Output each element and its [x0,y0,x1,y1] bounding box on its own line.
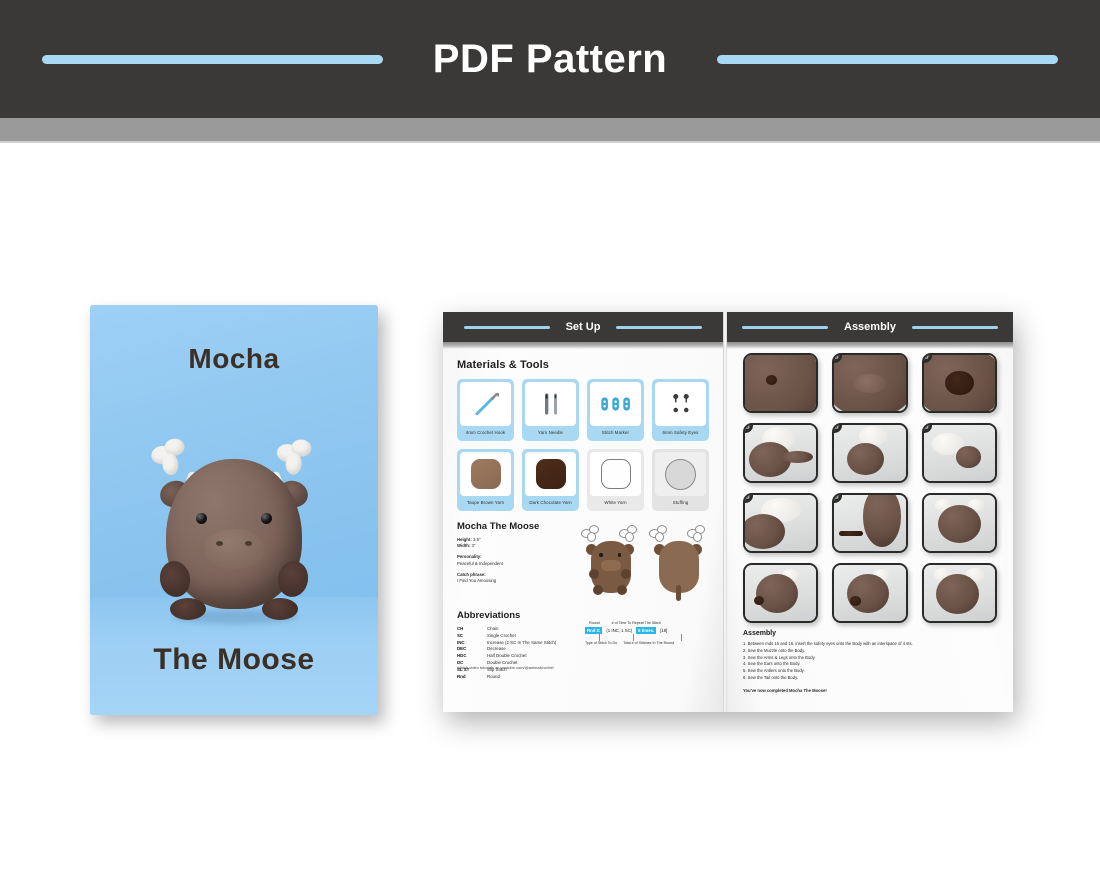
abbreviation-value: Round [487,674,500,681]
open-book-spread[interactable]: Set Up Materials & Tools 4mm Crochet Hoo… [443,312,1013,712]
abbreviation-key: HDC [457,653,487,660]
legend-round: Rnd 3: [585,627,602,634]
setup-header-title: Set Up [566,321,601,333]
assembly-step: 5. Sew the Antlers onto the Body. [743,668,997,675]
book-page-setup[interactable]: Set Up Materials & Tools 4mm Crochet Hoo… [443,312,723,712]
abbreviation-value: Increase (2 SC In The Same Stitch) [487,640,556,647]
header-rule-right [912,326,998,329]
setup-header-shadow [443,342,723,349]
catchphrase-label: Catch phrase: [457,572,486,577]
abbreviation-key: INC [457,640,487,647]
eye-left-icon [196,513,207,524]
leg-left [170,598,206,620]
assembly-photo-grid [727,349,1013,623]
moose-diagram-pair [579,521,709,601]
header-rule-right [616,326,702,329]
character-name: Mocha The Moose [457,521,571,532]
safety-eyes-icon [666,391,696,417]
material-label: Stitch Marker [590,426,641,441]
materials-heading: Materials & Tools [457,359,709,371]
yarn-needle-icon [536,389,566,419]
material-card-chocolate-yarn[interactable]: Dark Chocolate Yarn [522,449,579,511]
abbreviation-key: Rnd [457,674,487,681]
cover-subtitle: The Moose [90,643,378,677]
material-card-safety-eyes[interactable]: 6mm Safety Eyes [652,379,709,441]
abbreviation-row: HDC Half Double Crochet [457,653,709,660]
abbreviation-value: Half Double Crochet [487,653,527,660]
setup-page-header: Set Up [443,312,723,342]
width-value: 3" [472,543,476,548]
assembly-photo[interactable] [743,493,818,553]
abbreviation-key: SC [457,633,487,640]
header-rule-left [742,326,828,329]
material-card-stitch-marker[interactable]: Stitch Marker [587,379,644,441]
banner-rule-right [717,55,1058,64]
catchphrase-value: I Find You Amoosing [457,578,571,584]
assembly-photo[interactable] [922,423,997,483]
abbreviation-value: Decrease [487,646,506,653]
assembly-photo[interactable] [832,493,907,553]
abbreviation-row: Rnd Round [457,674,709,681]
material-label: 4mm Crochet Hook [460,426,511,441]
abbreviation-value: Chain [487,626,498,633]
assembly-step: 6. Sew the Tail onto the Body. [743,675,997,682]
book-page-assembly[interactable]: Assembly [727,312,1013,712]
material-card-stuffing[interactable]: Stuffing [652,449,709,511]
banner-gray-band [0,118,1100,141]
eye-right-icon [261,513,272,524]
legend-stitch: (1 INC, 1 SC) [604,627,634,634]
assembly-photo[interactable] [743,353,818,413]
assembly-photo[interactable] [743,563,818,623]
material-label: Taupe Brown Yarn [460,496,511,511]
assembly-photo[interactable] [832,563,907,623]
assembly-header-shadow [727,342,1013,349]
assembly-photo[interactable] [832,423,907,483]
stitch-marker-icon [599,393,633,415]
assembly-step: 2. Sew the Muzzle onto the Body. [743,648,997,655]
cover-title: Mocha [90,343,378,375]
moose-front-view-diagram [579,523,641,601]
abbreviation-value: Single Crochet [487,633,516,640]
assembly-photo[interactable] [832,353,907,413]
yarn-swatch-chocolate-icon [536,459,566,489]
character-info-row: Mocha The Moose Height: 3.5" Width: 3" P… [457,521,709,601]
header-rule-left [464,326,550,329]
legend-ticks [585,634,713,641]
height-value: 3.5" [473,537,481,542]
assembly-photo[interactable] [922,493,997,553]
legend-count: [18] [658,627,669,634]
personality-value: Peaceful & Independent [457,561,571,567]
legend-repeat: 6 times. [636,627,656,634]
assembly-step: 4. Sew the Ears onto the Body. [743,661,997,668]
yarn-swatch-taupe-icon [471,459,501,489]
page-banner: PDF Pattern [0,0,1100,118]
material-label: 6mm Safety Eyes [655,426,706,441]
banner-gray-band-edge [0,141,1100,143]
muzzle-icon [204,529,264,569]
assembly-photo[interactable] [922,353,997,413]
material-label: Stuffing [655,496,706,511]
page-footer-link[interactable]: Watch video tutorials at: youtube.com/@a… [457,665,554,670]
abbreviation-key: CH [457,626,487,633]
abbreviation-key: DEC [457,646,487,653]
stuffing-icon [665,459,696,490]
assembly-instructions: Assembly 1. Between rnds 15 and 16, inse… [727,623,1013,693]
material-label: White Yarn [590,496,641,511]
banner-rule-left [42,55,383,64]
assembly-photo[interactable] [922,563,997,623]
legend-bottom-left-label: Type of Stitch To Do [585,641,617,645]
material-card-white-yarn[interactable]: White Yarn [587,449,644,511]
crochet-hook-icon [471,389,501,419]
abbreviation-row: DEC Decrease [457,646,709,653]
assembly-heading: Assembly [743,630,997,637]
legend-bottom-right-label: Total # of Stitches In The Round [623,641,674,645]
assembly-photo[interactable] [743,423,818,483]
material-card-yarn-needle[interactable]: Yarn Needle [522,379,579,441]
abbreviations-heading: Abbreviations [457,610,709,621]
legend-top-right-label: # of Time To Repeat The Stitch [612,621,661,625]
moose-back-view-diagram [647,523,709,601]
assembly-page-header: Assembly [727,312,1013,342]
pattern-cover[interactable]: Mocha The Moose [90,305,378,715]
assembly-step: 1. Between rnds 15 and 16, insert the sa… [743,641,997,648]
material-card-crochet-hook[interactable]: 4mm Crochet Hook [457,379,514,441]
material-label: Yarn Needle [525,426,576,441]
materials-grid: 4mm Crochet Hook Yarn Needle [457,379,709,511]
assembly-header-title: Assembly [844,321,896,333]
personality-label: Personality: [457,554,482,559]
page-title: PDF Pattern [433,37,667,82]
legend-top-left-label: Round [589,621,600,625]
assembly-step: 3. Sew the Arms & Legs onto the Body. [743,655,997,662]
moose-plush-photo [144,437,324,622]
assembly-completion-message: You've now completed Mocha The Moose! [743,688,997,693]
height-label: Height: [457,537,472,542]
material-label: Dark Chocolate Yarn [525,496,576,511]
material-card-taupe-yarn[interactable]: Taupe Brown Yarn [457,449,514,511]
yarn-swatch-white-icon [601,459,631,489]
stitch-notation-legend: Round # of Time To Repeat The Stitch Rnd… [585,621,713,645]
leg-right [262,598,298,620]
width-label: Width: [457,543,470,548]
